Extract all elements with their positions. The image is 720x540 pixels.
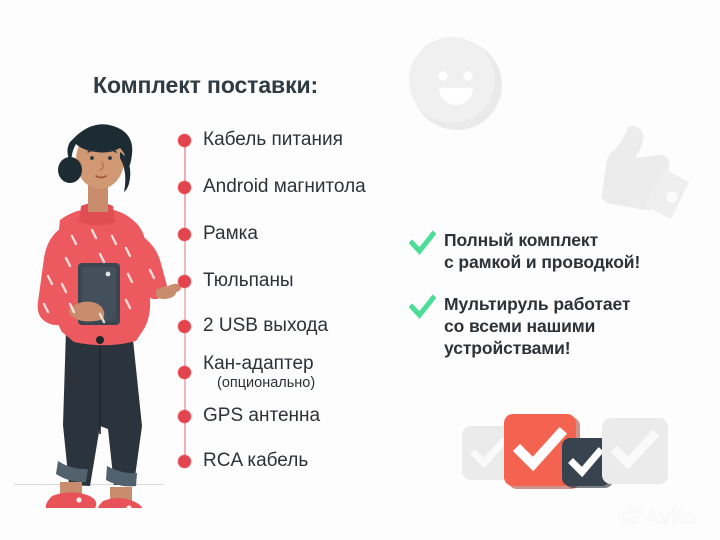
avito-watermark: Avito (617, 501, 713, 529)
benefit-item: Мультируль работает со всеми нашими устр… (409, 293, 630, 359)
list-item: Тюльпаны (178, 271, 294, 292)
list-item: Рамка (178, 224, 258, 245)
check-icon (602, 418, 668, 484)
benefit-label: Полный комплект с рамкой и проводкой! (444, 229, 640, 273)
list-item: Кабель питания (178, 130, 343, 151)
list-item: Кан-адаптер (опционально) (178, 354, 315, 391)
person-illustration (8, 108, 188, 508)
kit-list: Кабель питания Android магнитола Рамка Т… (178, 130, 428, 470)
check-icon (409, 294, 436, 321)
check-icon (409, 230, 436, 257)
list-item-label: GPS антенна (203, 406, 320, 427)
list-item-label: Кан-адаптер (опционально) (203, 354, 315, 391)
avito-watermark-text: Avito (645, 506, 697, 529)
list-item: 2 USB выхода (178, 316, 328, 337)
bullet-dot-icon (178, 275, 191, 288)
list-item-label: RCA кабель (203, 451, 308, 472)
bullet-dot-icon (178, 320, 191, 333)
promo-card: Комплект поставки: (0, 0, 720, 540)
bullet-dot-icon (178, 228, 191, 241)
list-item-label: Android магнитола (203, 177, 366, 198)
list-item-label-main: Кан-адаптер (203, 353, 314, 374)
list-item-label: Кабель питания (203, 130, 343, 151)
list-item: RCA кабель (178, 451, 308, 472)
checkbox-cluster (462, 412, 630, 494)
benefit-label: Мультируль работает со всеми нашими устр… (444, 293, 630, 359)
checkbox-tile-gray-right (602, 418, 668, 484)
benefit-item: Полный комплект с рамкой и проводкой! (409, 229, 640, 273)
page-title: Комплект поставки: (93, 72, 318, 99)
bullet-dot-icon (178, 410, 191, 423)
list-item: GPS антенна (178, 406, 320, 427)
bullet-dot-icon (178, 366, 191, 379)
bullet-dot-icon (178, 455, 191, 468)
smiley-face-icon (408, 36, 506, 134)
bullet-dot-icon (178, 181, 191, 194)
list-item: Android магнитола (178, 177, 366, 198)
bullet-dot-icon (178, 134, 191, 147)
list-item-label: Тюльпаны (203, 271, 294, 292)
list-item-sublabel: (опционально) (203, 376, 315, 392)
list-item-label: Рамка (203, 224, 258, 245)
thumbs-up-icon (578, 114, 696, 232)
list-item-label: 2 USB выхода (203, 316, 328, 337)
